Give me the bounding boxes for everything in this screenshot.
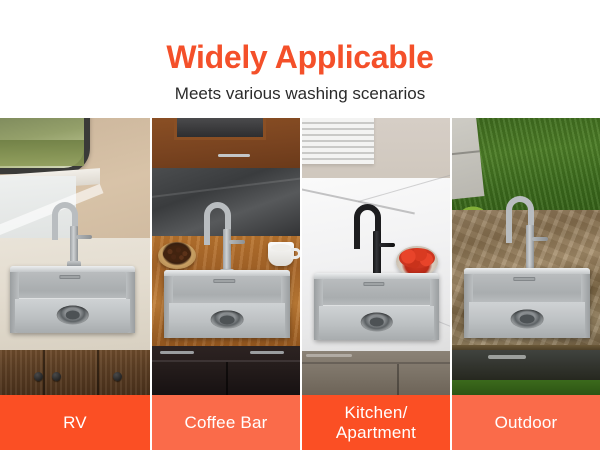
sink-overflow-vent [363,282,384,286]
cabinet-knob-icon [113,372,122,381]
scenario-panel-kitchen-apartment[interactable]: Kitchen/ Apartment [300,118,450,450]
sink-drain-icon [360,312,393,331]
drawer-handle-icon [160,351,194,354]
scenario-panel-strip: RV [0,118,600,450]
cabinet-seam [397,364,399,395]
chrome-faucet-icon [52,202,78,264]
faucet-column [526,225,534,272]
dark-outdoor-cabinet [452,350,600,380]
panel-label-text-line1: Kitchen/ [336,403,416,423]
scenario-panel-outdoor[interactable]: Outdoor [450,118,600,450]
sink-rim [10,266,135,272]
cabinet-knob-icon [34,372,43,381]
coffee-beans [163,246,190,262]
wood-grain-texture [0,350,150,395]
page-title: Widely Applicable [0,38,600,76]
stainless-steel-sink [464,268,590,338]
faucet-handle [76,235,92,239]
chrome-faucet-icon [204,202,231,272]
chrome-faucet-icon [506,196,534,272]
panel-label-coffee-bar: Coffee Bar [152,395,300,450]
sink-overflow-vent [514,277,535,281]
sink-rim [314,273,439,279]
drawer-handle-icon [250,351,284,354]
sink-drain-icon [511,309,544,328]
rv-window-icon [0,118,90,174]
sink-rim [164,270,290,276]
mug-handle [291,248,300,259]
panel-label-text-line2: Apartment [336,423,416,443]
dark-lower-cabinets [152,346,300,395]
scene-outdoor [452,118,600,395]
faucet-column [223,229,231,272]
stainless-steel-sink [164,270,290,338]
panel-label-kitchen-apartment: Kitchen/ Apartment [302,395,450,450]
scenario-panel-coffee-bar[interactable]: Coffee Bar [150,118,300,450]
cabinet-seam [226,362,228,395]
stainless-steel-sink [314,273,439,340]
panel-label-rv: RV [0,395,150,450]
promo-banner: Widely Applicable Meets various washing … [0,0,600,450]
coffee-bean-bowl-icon [158,242,196,269]
cabinet-handle-icon [488,355,526,359]
cabinet-handle-icon [218,154,250,157]
scene-coffee-bar [152,118,300,395]
faucet-handle [229,240,245,244]
stainless-steel-sink [10,266,135,333]
sink-overflow-vent [59,275,80,279]
cabinet-seam [43,350,45,395]
scene-kitchen-apartment [302,118,450,395]
sink-rim [464,268,590,274]
panel-label-text: Outdoor [495,413,558,433]
panel-label-outdoor: Outdoor [452,395,600,450]
cabinet-knob-icon [52,372,61,381]
slate-vein [152,175,300,199]
faucet-handle [532,237,548,241]
red-peppers [399,248,434,268]
faucet-handle [379,243,395,247]
panel-label-text: RV [63,413,87,433]
cabinet-handle-icon [306,354,352,357]
scene-rv-interior [0,118,150,395]
sink-drain-icon [211,310,244,329]
lawn-foreground [452,380,600,395]
cabinet-divider [302,362,450,364]
faucet-column [373,231,381,276]
taupe-cabinets [302,351,450,395]
window-grass [0,140,84,166]
rv-wood-cabinets [0,350,150,395]
paver-seam [452,150,480,156]
white-mug-icon [268,242,294,266]
faucet-column [70,226,78,264]
upper-shelf-appliance [174,118,266,140]
sink-overflow-vent [214,279,235,283]
scenario-panel-rv[interactable]: RV [0,118,150,450]
black-faucet-icon [354,204,381,276]
page-subtitle: Meets various washing scenarios [0,83,600,105]
sink-drain-icon [56,305,89,324]
header: Widely Applicable Meets various washing … [0,0,600,118]
panel-label-text: Coffee Bar [185,413,268,433]
cabinet-seam [97,350,99,395]
window-blinds-icon [302,118,374,164]
